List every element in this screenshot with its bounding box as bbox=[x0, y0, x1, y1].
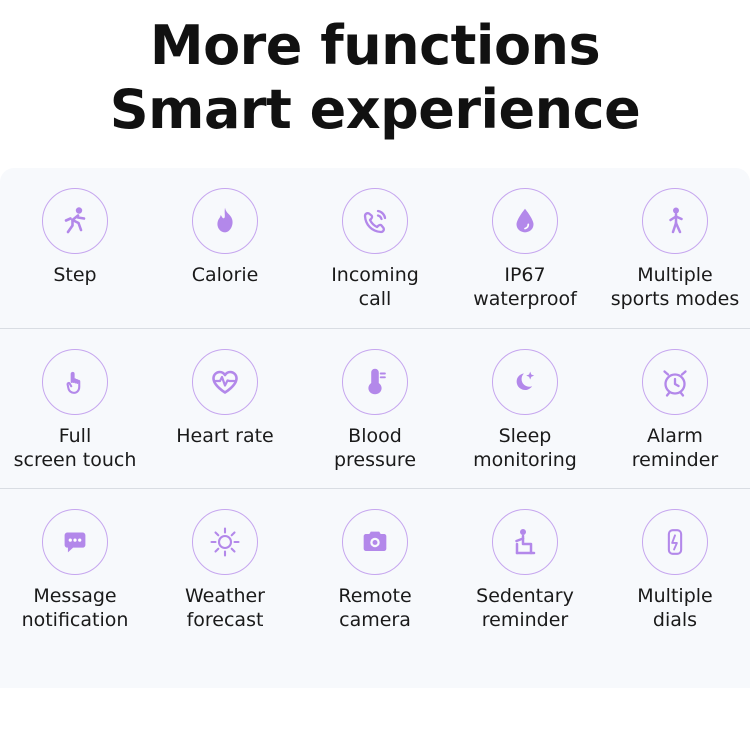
message-bubble-icon bbox=[42, 509, 108, 575]
sports-modes-icon bbox=[642, 188, 708, 254]
watch-dial-icon bbox=[642, 509, 708, 575]
feature-item-calorie[interactable]: Calorie bbox=[150, 168, 300, 328]
feature-label: Incoming call bbox=[331, 263, 419, 311]
feature-label: Heart rate bbox=[176, 424, 274, 448]
feature-panel: Step Calorie Incoming bbox=[0, 168, 750, 688]
camera-icon bbox=[342, 509, 408, 575]
feature-row: Message notification bbox=[0, 488, 750, 648]
feature-item-step[interactable]: Step bbox=[0, 168, 150, 328]
feature-label: IP67 waterproof bbox=[473, 263, 577, 311]
sedentary-person-icon bbox=[492, 509, 558, 575]
feature-label: Sleep monitoring bbox=[473, 424, 577, 472]
flame-icon bbox=[192, 188, 258, 254]
feature-item-blood-pressure[interactable]: Blood pressure bbox=[300, 329, 450, 488]
feature-item-full-screen-touch[interactable]: Full screen touch bbox=[0, 329, 150, 488]
headline-line-2: Smart experience bbox=[0, 78, 750, 142]
running-person-icon bbox=[42, 188, 108, 254]
feature-item-sports-modes[interactable]: Multiple sports modes bbox=[600, 168, 750, 328]
page-title: More functions Smart experience bbox=[0, 0, 750, 142]
feature-item-message-notification[interactable]: Message notification bbox=[0, 489, 150, 648]
feature-label: Calorie bbox=[192, 263, 259, 287]
feature-item-ip67-waterproof[interactable]: IP67 waterproof bbox=[450, 168, 600, 328]
feature-item-weather-forecast[interactable]: Weather forecast bbox=[150, 489, 300, 648]
feature-label: Alarm reminder bbox=[632, 424, 718, 472]
feature-item-sleep-monitoring[interactable]: Sleep monitoring bbox=[450, 329, 600, 488]
sun-icon bbox=[192, 509, 258, 575]
phone-call-icon bbox=[342, 188, 408, 254]
thermometer-icon bbox=[342, 349, 408, 415]
moon-star-icon bbox=[492, 349, 558, 415]
feature-label: Sedentary reminder bbox=[476, 584, 574, 632]
feature-item-multiple-dials[interactable]: Multiple dials bbox=[600, 489, 750, 648]
touch-hand-icon bbox=[42, 349, 108, 415]
water-drop-icon bbox=[492, 188, 558, 254]
heart-pulse-icon bbox=[192, 349, 258, 415]
feature-item-sedentary-reminder[interactable]: Sedentary reminder bbox=[450, 489, 600, 648]
feature-label: Multiple dials bbox=[637, 584, 712, 632]
feature-label: Weather forecast bbox=[185, 584, 265, 632]
feature-item-remote-camera[interactable]: Remote camera bbox=[300, 489, 450, 648]
feature-row: Step Calorie Incoming bbox=[0, 168, 750, 328]
feature-label: Remote camera bbox=[338, 584, 411, 632]
feature-label: Message notification bbox=[22, 584, 129, 632]
feature-row: Full screen touch Heart rate bbox=[0, 328, 750, 488]
headline-line-1: More functions bbox=[0, 14, 750, 78]
feature-item-incoming-call[interactable]: Incoming call bbox=[300, 168, 450, 328]
feature-label: Full screen touch bbox=[14, 424, 137, 472]
feature-item-heart-rate[interactable]: Heart rate bbox=[150, 329, 300, 488]
feature-label: Multiple sports modes bbox=[611, 263, 740, 311]
feature-label: Blood pressure bbox=[334, 424, 416, 472]
feature-label: Step bbox=[53, 263, 96, 287]
feature-item-alarm-reminder[interactable]: Alarm reminder bbox=[600, 329, 750, 488]
alarm-clock-icon bbox=[642, 349, 708, 415]
promo-page: More functions Smart experience Step bbox=[0, 0, 750, 750]
